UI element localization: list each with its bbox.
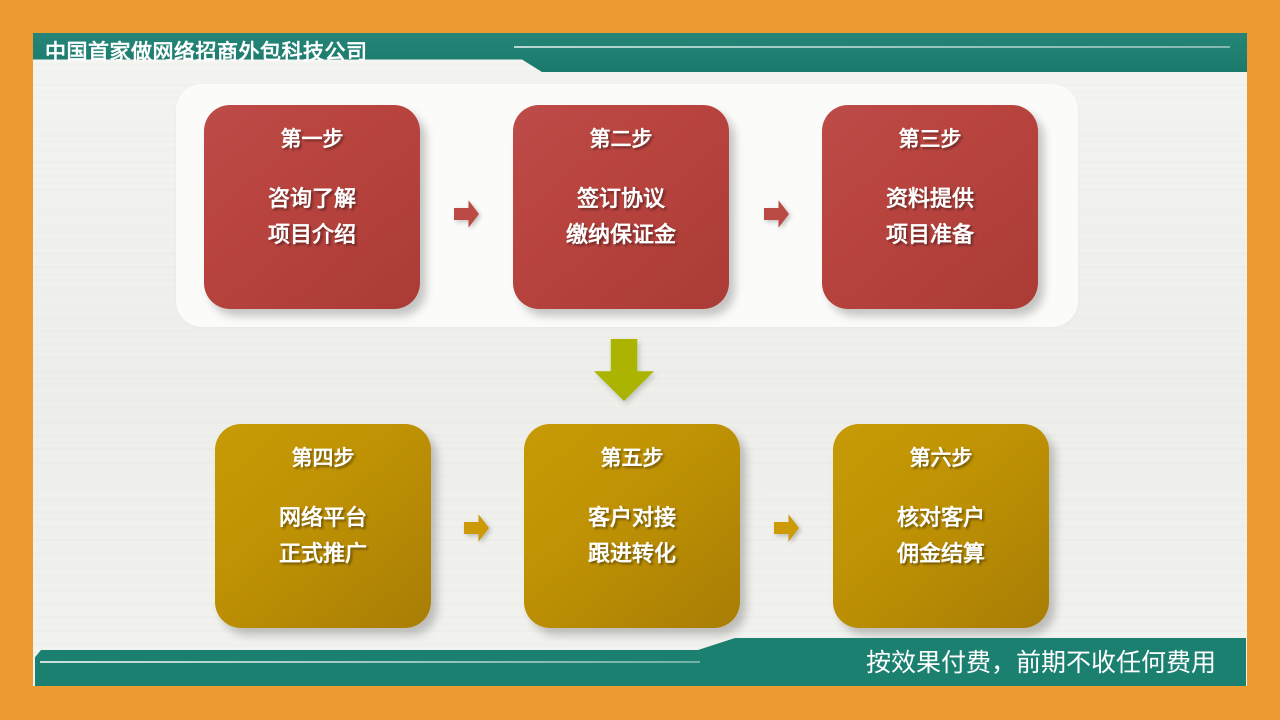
footer-tagline: 按效果付费，前期不收任何费用: [0, 646, 1238, 680]
slide-canvas: 中国首家做网络招商外包科技公司 第一步 咨询了解 项目介绍 第二步 签订协议 缴…: [0, 0, 1280, 720]
step-card-2-line-1: 签订协议: [566, 188, 676, 212]
arrow-right-icon: [454, 199, 479, 229]
step-card-1-step-label: 第一步: [281, 129, 344, 150]
step-card-1-content: 第一步 咨询了解 项目介绍: [204, 105, 420, 309]
step-card-1-line-2: 项目介绍: [268, 224, 356, 248]
arrow-down-icon-glyph: [594, 339, 654, 401]
step-card-5-line-2: 跟进转化: [588, 543, 676, 567]
step-card-2-content: 第二步 签订协议 缴纳保证金: [513, 105, 729, 309]
step-card-5-lines: 客户对接 跟进转化: [588, 507, 676, 567]
step-card-5-line-1: 客户对接: [588, 507, 676, 531]
step-card-3-step-label: 第三步: [899, 129, 962, 150]
arrow-right-icon: [464, 513, 489, 543]
step-card-6[interactable]: 第六步 核对客户 佣金结算: [833, 424, 1049, 628]
step-card-6-line-1: 核对客户: [897, 507, 985, 531]
step-card-4-line-1: 网络平台: [279, 507, 367, 531]
step-card-4[interactable]: 第四步 网络平台 正式推广: [215, 424, 431, 628]
arrow-right-icon: [774, 513, 799, 543]
step-card-3-lines: 资料提供 项目准备: [886, 188, 974, 248]
step-card-2[interactable]: 第二步 签订协议 缴纳保证金: [513, 105, 729, 309]
step-card-2-step-label: 第二步: [590, 129, 653, 150]
step-card-1-lines: 咨询了解 项目介绍: [268, 188, 356, 248]
arrow-right-icon-glyph: [464, 513, 489, 543]
arrow-right-icon: [764, 199, 789, 229]
step-card-5[interactable]: 第五步 客户对接 跟进转化: [524, 424, 740, 628]
step-card-3-line-2: 项目准备: [886, 224, 974, 248]
arrow-right-icon-glyph: [764, 199, 789, 229]
step-card-5-content: 第五步 客户对接 跟进转化: [524, 424, 740, 628]
arrow-right-icon-glyph: [774, 513, 799, 543]
step-card-6-content: 第六步 核对客户 佣金结算: [833, 424, 1049, 628]
step-card-4-line-2: 正式推广: [279, 543, 367, 567]
step-card-1-line-1: 咨询了解: [268, 188, 356, 212]
step-card-6-line-2: 佣金结算: [897, 543, 985, 567]
step-card-3-content: 第三步 资料提供 项目准备: [822, 105, 1038, 309]
header-hairline-divider: [514, 46, 1230, 48]
arrow-down-icon: [594, 339, 654, 401]
step-card-3-line-1: 资料提供: [886, 188, 974, 212]
step-card-4-step-label: 第四步: [292, 448, 355, 469]
step-card-4-content: 第四步 网络平台 正式推广: [215, 424, 431, 628]
page-title: 中国首家做网络招商外包科技公司: [45, 36, 368, 69]
step-card-1[interactable]: 第一步 咨询了解 项目介绍: [204, 105, 420, 309]
step-card-5-step-label: 第五步: [601, 448, 664, 469]
step-card-4-lines: 网络平台 正式推广: [279, 507, 367, 567]
step-card-2-lines: 签订协议 缴纳保证金: [566, 188, 676, 248]
arrow-right-icon-glyph: [454, 199, 479, 229]
step-card-2-line-2: 缴纳保证金: [566, 224, 676, 248]
step-card-3[interactable]: 第三步 资料提供 项目准备: [822, 105, 1038, 309]
step-card-6-step-label: 第六步: [910, 448, 973, 469]
step-card-6-lines: 核对客户 佣金结算: [897, 507, 985, 567]
